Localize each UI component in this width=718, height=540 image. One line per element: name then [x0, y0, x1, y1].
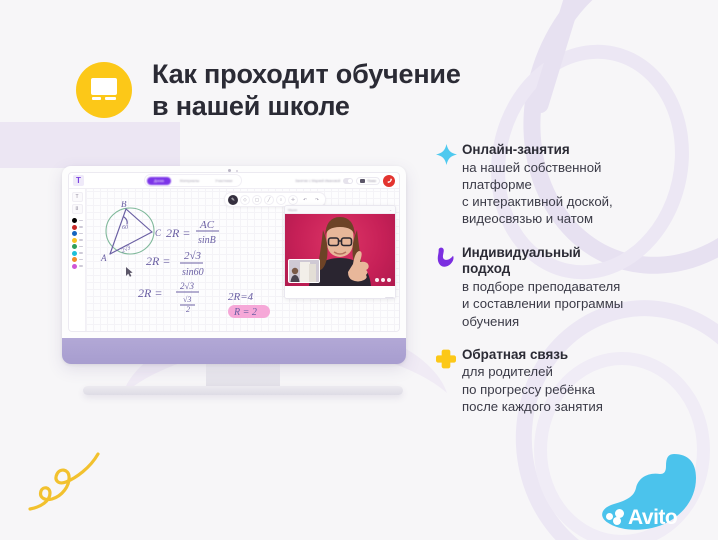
svg-text:sin60: sin60 — [182, 267, 204, 278]
svg-text:2R =: 2R = — [166, 226, 190, 240]
svg-text:60: 60 — [122, 225, 128, 231]
monitor-stand-neck — [206, 364, 280, 386]
video-panel-header: Мария ⌄ — [285, 206, 395, 214]
monitor-icon — [90, 78, 118, 102]
svg-text:2√3: 2√3 — [120, 244, 131, 254]
monitor-body: T Доска Материалы Участники Занятие с Ма… — [62, 166, 406, 364]
feature-2-heading-line2: подход — [462, 261, 704, 278]
feature-1-line4: видеосвязью и чатом — [462, 210, 704, 227]
screen-share-label: Показ — [367, 179, 376, 183]
swatch-blue[interactable] — [72, 231, 77, 236]
video-panel-title: Мария — [288, 208, 297, 212]
svg-text:A: A — [100, 253, 107, 263]
background-swoosh-tail — [529, 0, 589, 115]
palette-row[interactable] — [72, 225, 83, 230]
feature-2-line3: обучения — [462, 313, 704, 330]
monitor-screen: T Доска Материалы Участники Занятие с Ма… — [68, 172, 400, 332]
palette-row[interactable] — [72, 257, 83, 262]
swatch-red[interactable] — [72, 225, 77, 230]
list-item: Индивидуальный подход в подборе преподав… — [436, 245, 704, 330]
monitor-stand-base — [83, 386, 403, 395]
feature-2-line2: и составлении программы — [462, 295, 704, 312]
svg-text:√3: √3 — [183, 295, 191, 304]
svg-text:C: C — [155, 228, 162, 238]
tab-materials[interactable]: Материалы — [173, 177, 206, 185]
avito-watermark: Avito — [606, 507, 677, 528]
palette-row[interactable] — [72, 231, 83, 236]
screen-share-icon — [360, 179, 365, 183]
feature-1-line2: платформе — [462, 176, 704, 193]
swatch-cyan[interactable] — [72, 251, 77, 256]
swatch-black[interactable] — [72, 218, 77, 223]
page-title: Как проходит обучение в нашей школе — [152, 58, 461, 122]
feature-3-line2: по прогрессу ребёнка — [462, 381, 704, 398]
feature-1-line3: с интерактивной доской, — [462, 193, 704, 210]
app-tabs: Доска Материалы Участники — [144, 174, 242, 187]
end-call-button[interactable] — [383, 175, 395, 187]
palette-row[interactable] — [72, 251, 83, 256]
svg-text:2: 2 — [186, 305, 190, 314]
svg-text:B: B — [121, 201, 127, 209]
monitor-bottom-bezel — [62, 338, 406, 364]
app-logo[interactable]: T — [73, 175, 84, 186]
swatch-yellow[interactable] — [72, 238, 77, 243]
svg-text:2R =: 2R = — [146, 254, 170, 268]
app-body: T ⌷ — [69, 189, 399, 332]
yellow-squiggle-icon — [24, 452, 102, 514]
video-stage — [285, 214, 395, 286]
list-item: Онлайн-занятия на нашей собственной плат… — [436, 142, 704, 228]
star-icon — [436, 142, 462, 228]
svg-text:2R=4: 2R=4 — [228, 291, 254, 303]
mouse-cursor-icon — [126, 267, 133, 277]
palette-row[interactable] — [72, 218, 83, 223]
tab-board[interactable]: Доска — [147, 177, 171, 185]
feature-1-heading: Онлайн-занятия — [462, 142, 704, 159]
svg-text:2R =: 2R = — [138, 286, 162, 300]
watermark-area: Avito — [590, 452, 718, 540]
app-topbar-right: Занятие с Марией Ивановой Показ — [295, 175, 395, 187]
lock-tool-button[interactable]: ⌷ — [72, 204, 83, 214]
color-palette — [69, 216, 85, 269]
page-title-line2: в нашей школе — [152, 90, 461, 122]
header-badge — [76, 62, 132, 118]
avito-dots-icon — [606, 509, 625, 526]
feature-2-line1: в подборе преподавателя — [462, 278, 704, 295]
more-dots-icon[interactable] — [375, 278, 391, 282]
text-tool-button[interactable]: T — [72, 192, 83, 202]
crescent-hook-icon — [436, 245, 462, 330]
palette-row[interactable] — [72, 238, 83, 243]
session-toggle[interactable] — [343, 178, 353, 184]
poster-canvas: Как проходит обучение в нашей школе T До… — [0, 0, 718, 540]
page-header: Как проходит обучение в нашей школе — [76, 58, 461, 122]
monitor-mockup: T Доска Материалы Участники Занятие с Ма… — [62, 166, 424, 395]
screen-share-button[interactable]: Показ — [356, 177, 380, 185]
list-item: Обратная связь для родителей по прогресс… — [436, 347, 704, 415]
app-sidebar: T ⌷ — [69, 189, 86, 332]
feature-3-line1: для родителей — [462, 363, 704, 380]
app-topbar: T Доска Материалы Участники Занятие с Ма… — [69, 173, 399, 189]
swatch-magenta[interactable] — [72, 264, 77, 269]
swatch-orange[interactable] — [72, 257, 77, 262]
video-call-panel[interactable]: Мария ⌄ — [284, 205, 396, 299]
resize-handle[interactable] — [385, 297, 394, 299]
svg-text:sinB: sinB — [198, 235, 216, 246]
video-panel-footer — [285, 286, 395, 298]
highlighted-result: R = 2 — [233, 307, 257, 318]
feature-3-line3: после каждого занятия — [462, 398, 704, 415]
session-label: Занятие с Марией Ивановой — [295, 179, 340, 183]
close-icon[interactable]: ⌄ — [389, 208, 392, 212]
palette-row[interactable] — [72, 244, 83, 249]
svg-text:2√3: 2√3 — [184, 250, 202, 262]
feature-1-line1: на нашей собственной — [462, 159, 704, 176]
plus-icon — [436, 347, 462, 415]
feature-3-heading: Обратная связь — [462, 347, 704, 364]
end-call-icon — [386, 177, 393, 184]
palette-row[interactable] — [72, 264, 83, 269]
picture-in-picture-video[interactable] — [288, 259, 320, 283]
svg-text:2√3: 2√3 — [180, 281, 194, 291]
whiteboard-canvas[interactable]: ✎ ◇ ▢ ╱ ○ ✛ ↶ ↷ — [86, 189, 399, 332]
swatch-green[interactable] — [72, 244, 77, 249]
page-title-line1: Как проходит обучение — [152, 58, 461, 90]
avito-wordmark: Avito — [628, 507, 677, 528]
tab-participants[interactable]: Участники — [208, 177, 239, 185]
svg-text:AC: AC — [199, 219, 215, 231]
feature-2-heading-line1: Индивидуальный — [462, 245, 704, 262]
feature-list: Онлайн-занятия на нашей собственной плат… — [436, 142, 704, 432]
